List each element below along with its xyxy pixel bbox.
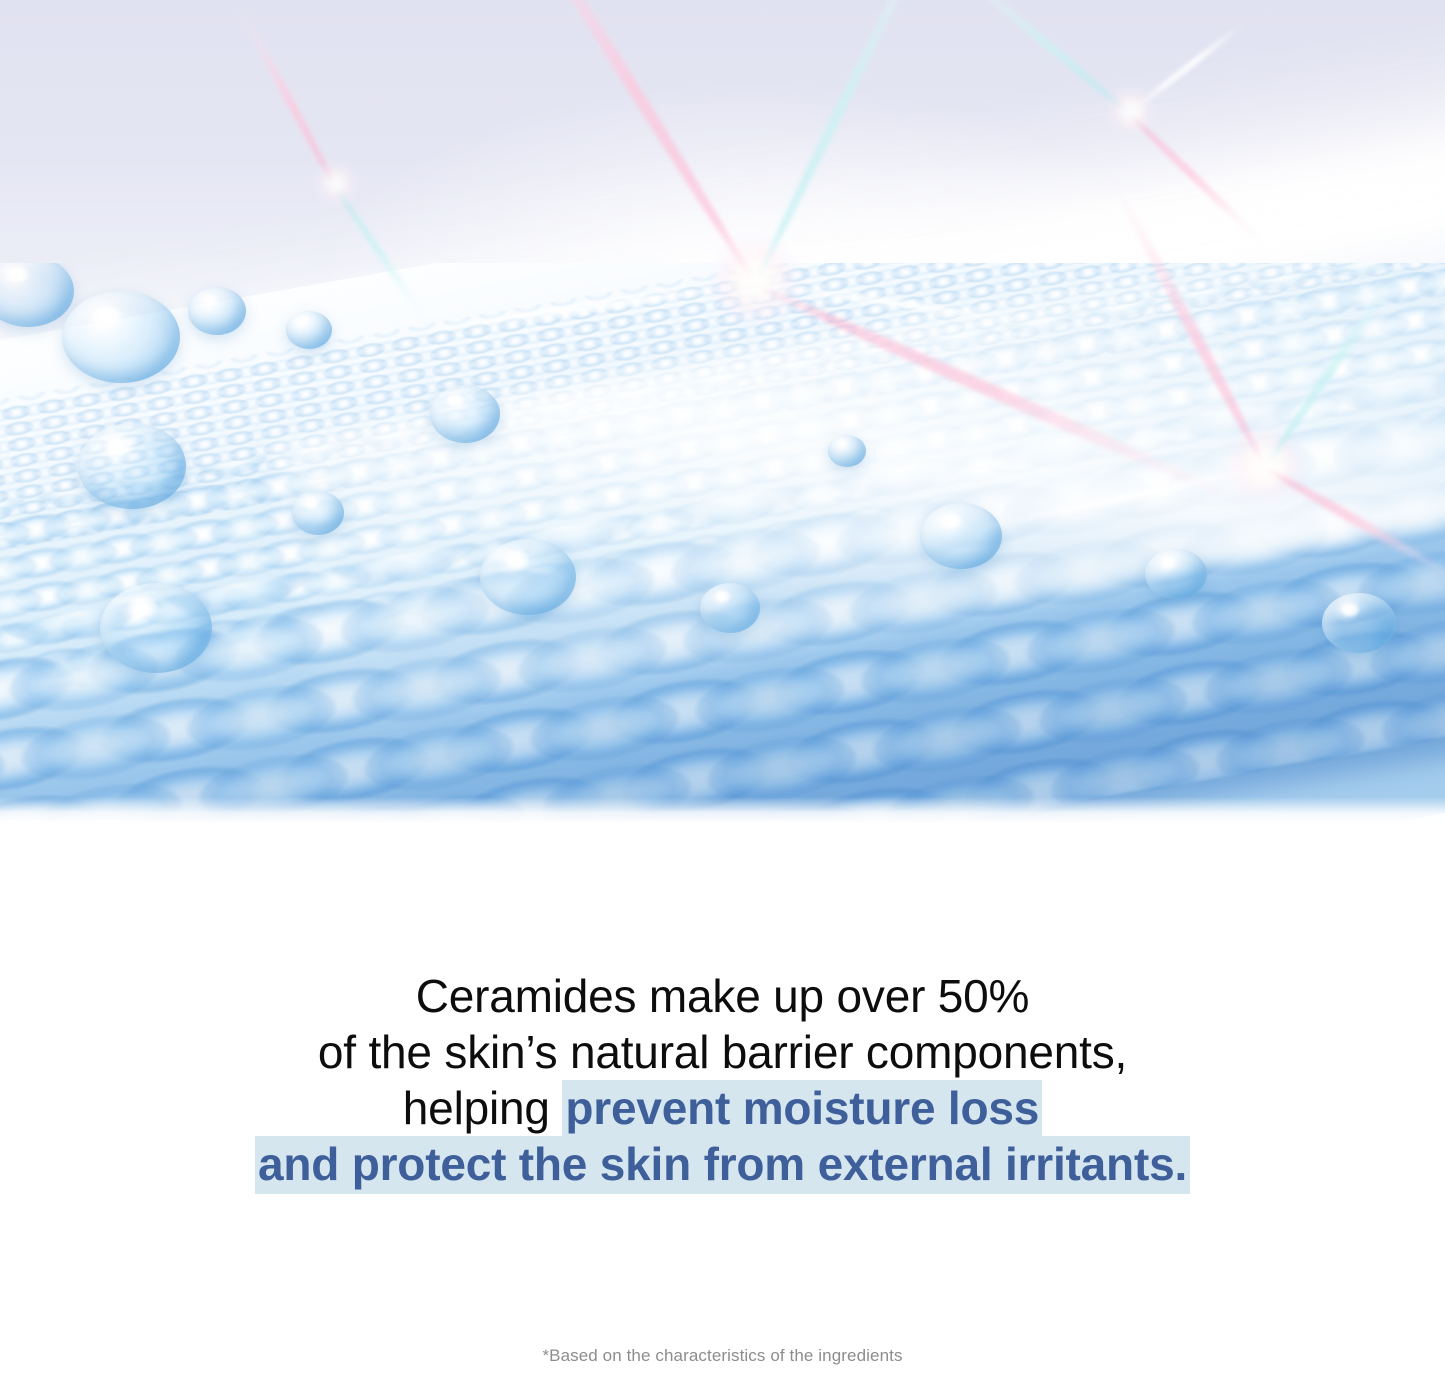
hero-image-skin-barrier [0,0,1445,823]
copy-line-4-highlight: and protect the skin from external irrit… [255,1136,1190,1194]
copy-line-2: of the skin’s natural barrier components… [0,1024,1445,1080]
moisture-droplet [700,583,760,633]
product-detail-page: Ceramides make up over 50% of the skin’s… [0,0,1445,1373]
moisture-droplet [1322,593,1396,653]
moisture-droplet [286,311,332,349]
copy-line-3-plain: helping [403,1082,563,1134]
marketing-copy-block: Ceramides make up over 50% of the skin’s… [0,968,1445,1192]
moisture-droplet [1145,549,1207,599]
hero-bottom-fade [0,797,1445,823]
moisture-droplet [292,491,344,535]
footnote-disclaimer: *Based on the characteristics of the ing… [0,1344,1445,1368]
moisture-droplet [430,385,500,443]
moisture-droplet [480,539,576,615]
ceramide-cell-field [0,263,1445,823]
moisture-droplet [100,583,212,673]
copy-line-4: and protect the skin from external irrit… [0,1136,1445,1192]
copy-line-3-highlight: prevent moisture loss [562,1080,1042,1138]
moisture-droplet [828,435,866,467]
moisture-droplet [920,503,1002,569]
copy-line-1: Ceramides make up over 50% [0,968,1445,1024]
moisture-droplet [188,287,246,335]
moisture-droplet [0,263,74,327]
copy-line-3: helping prevent moisture loss [0,1080,1445,1136]
moisture-droplet [78,423,186,509]
moisture-droplet [62,291,180,383]
